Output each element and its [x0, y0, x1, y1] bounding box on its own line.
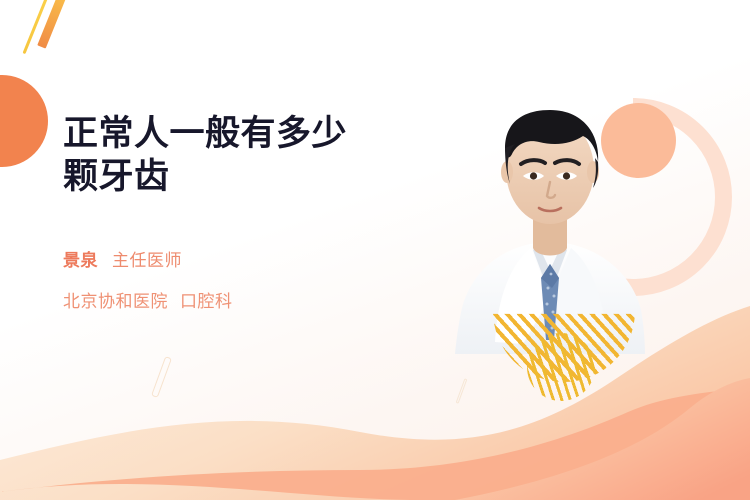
page-title: 正常人一般有多少 颗牙齿: [63, 112, 423, 199]
doctor-title: 主任医师: [112, 251, 182, 270]
doctor-affiliation: 北京协和医院口腔科: [63, 287, 423, 312]
striped-circle-decoration: [527, 333, 595, 401]
doctor-info-card: 正常人一般有多少 颗牙齿 景泉主任医师 北京协和医院口腔科: [0, 0, 750, 500]
doctor-department: 口腔科: [180, 292, 233, 311]
doctor-name: 景泉: [63, 251, 98, 270]
doctor-hospital: 北京协和医院: [63, 292, 168, 311]
text-block: 正常人一般有多少 颗牙齿 景泉主任医师 北京协和医院口腔科: [63, 112, 423, 312]
doctor-byline: 景泉主任医师: [63, 246, 423, 271]
